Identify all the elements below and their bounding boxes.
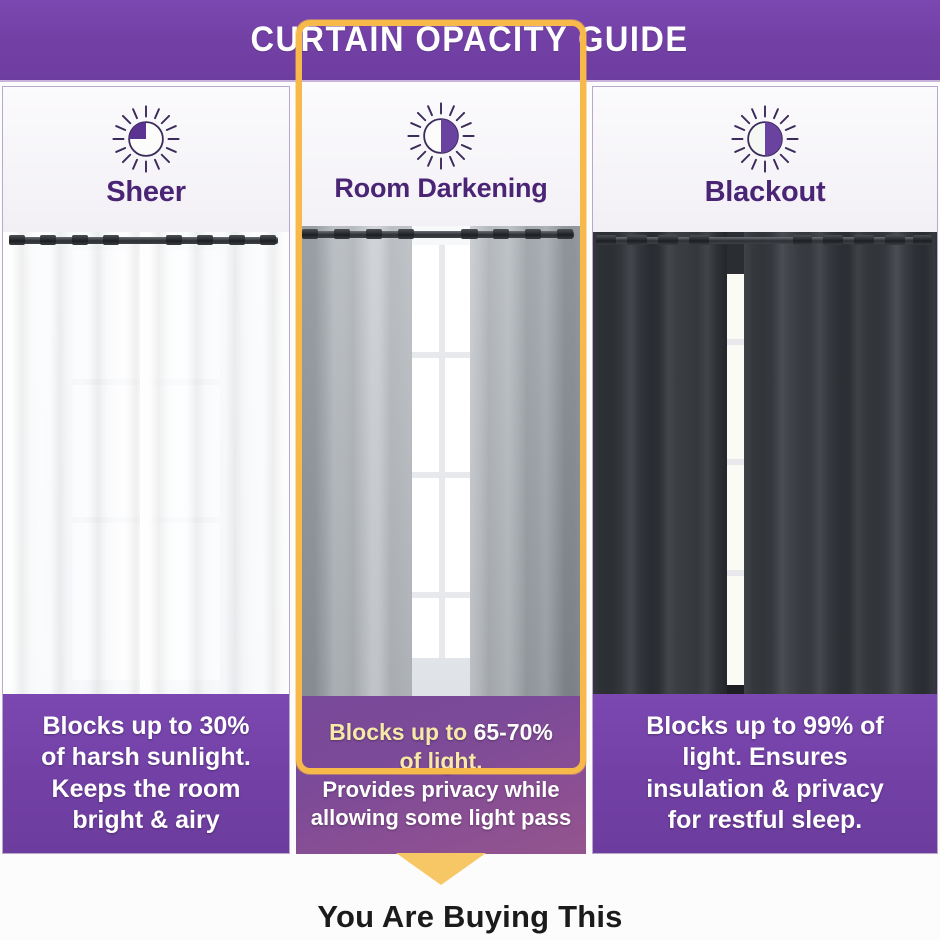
sun-half-filled-icon [729,103,801,175]
curtain-rod [593,232,937,248]
column-room-darkening[interactable]: Room Darkening [296,86,586,854]
description-line: Blocks up to 99% of [646,711,884,743]
page-title: CURTAIN OPACITY GUIDE [251,20,689,60]
curtain-photo-room-darkening [296,226,586,696]
curtain-panel-right [470,226,586,696]
description-line: Blocks up to 65-70% [329,718,553,747]
description-line: Blocks up to 30% [43,711,250,743]
you-are-buying-this-label: You Are Buying This [317,899,622,935]
header-banner: CURTAIN OPACITY GUIDE [0,0,940,82]
footer: You Are Buying This [0,893,940,940]
curtain-photo-sheer [2,232,290,694]
curtain-panel-right [140,232,289,694]
curtain-panel-left [593,232,727,694]
type-label-room-darkening: Room Darkening [334,173,547,204]
description-segment-highlight: Blocks up to [329,719,473,745]
curtain-rod [3,232,289,248]
label-card-sheer: Sheer [2,86,290,232]
type-label-blackout: Blackout [705,176,826,209]
description-line: bright & airy [72,805,219,837]
description-panel-room-darkening: Blocks up to 65-70% of light. Provides p… [296,696,586,854]
type-label-sheer: Sheer [106,176,186,209]
down-arrow-icon [396,853,486,885]
description-panel-sheer: Blocks up to 30% of harsh sunlight. Keep… [2,694,290,854]
description-line: allowing some light pass [311,804,571,832]
description-line: Provides privacy while [322,776,559,804]
description-line: for restful sleep. [668,805,863,837]
comparison-columns: Sheer [0,86,940,854]
description-line: light. Ensures [682,742,847,774]
description-line: insulation & privacy [646,774,884,806]
column-blackout[interactable]: Blackout [592,86,938,854]
sun-half-filled-icon [405,100,477,172]
description-line: of light. [399,747,482,776]
description-panel-blackout: Blocks up to 99% of light. Ensures insul… [592,694,938,854]
column-sheer[interactable]: Sheer [2,86,290,854]
description-line: Keeps the room [52,774,241,806]
curtain-panel-left [3,232,152,694]
curtain-photo-blackout [592,232,938,694]
curtain-rod [296,226,586,242]
curtain-panel-right [744,232,937,694]
sun-quarter-filled-icon [110,103,182,175]
curtain-panel-left [296,226,412,696]
description-segment: 65-70% [474,719,553,745]
label-card-room-darkening: Room Darkening [296,86,586,226]
description-line: of harsh sunlight. [41,742,251,774]
label-card-blackout: Blackout [592,86,938,232]
